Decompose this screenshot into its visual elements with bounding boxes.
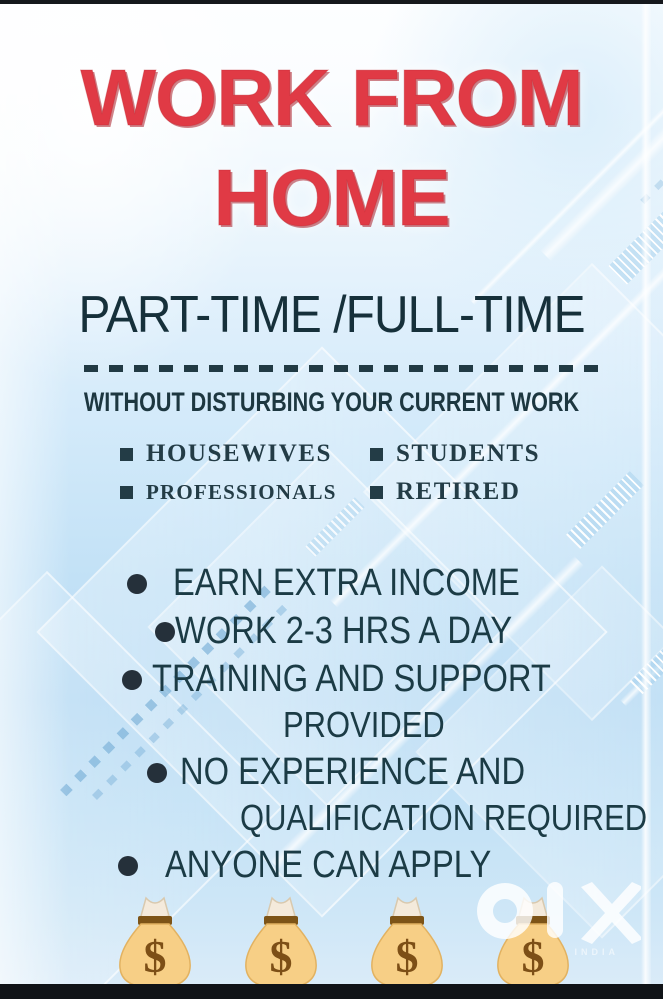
benefit-item: NO EXPERIENCE AND (0, 749, 663, 797)
round-bullet-icon (127, 574, 147, 594)
svg-text:$: $ (144, 931, 167, 982)
square-bullet-icon (370, 448, 383, 461)
round-bullet-icon (155, 622, 175, 642)
tagline: WITHOUT DISTURBING YOUR CURRENT WORK (66, 387, 596, 418)
square-bullet-icon (370, 486, 383, 499)
benefit-label: WORK 2-3 HRS A DAY (175, 610, 512, 653)
money-bag-icon: $ (364, 894, 450, 990)
olx-watermark-region: INDIA (575, 947, 620, 957)
poster-content: WORK FROM HOME PART-TIME /FULL-TIME WITH… (0, 0, 663, 999)
benefit-label: EARN EXTRA INCOME (173, 562, 520, 605)
benefit-label: TRAINING AND SUPPORT (152, 658, 551, 701)
benefit-continuation: PROVIDED (0, 704, 663, 749)
audience-item-label: RETIRED (396, 478, 520, 506)
benefit-label: NO EXPERIENCE AND (180, 751, 525, 794)
square-bullet-icon (120, 486, 133, 499)
audience-item-label: STUDENTS (396, 440, 540, 468)
benefit-item: WORK 2-3 HRS A DAY (0, 608, 663, 656)
round-bullet-icon (122, 670, 142, 690)
subheadline: PART-TIME /FULL-TIME (27, 285, 637, 345)
audience-item-label: HOUSEWIVES (146, 440, 332, 468)
top-letterbox-bar (0, 0, 663, 4)
round-bullet-icon (147, 763, 167, 783)
headline-line-1: WORK FROM (0, 60, 663, 136)
work-from-home-poster: WORK FROM HOME PART-TIME /FULL-TIME WITH… (0, 0, 663, 999)
audience-item: HOUSEWIVES (120, 440, 370, 468)
audience-item: PROFESSIONALS (120, 478, 370, 506)
audience-item: RETIRED (370, 478, 560, 506)
benefit-item: EARN EXTRA INCOME (0, 560, 663, 608)
benefit-continuation-label: QUALIFICATION REQUIRED (240, 797, 647, 839)
bottom-letterbox-bar (0, 984, 663, 999)
benefit-label: ANYONE CAN APPLY (165, 844, 491, 887)
benefit-continuation: QUALIFICATION REQUIRED (0, 797, 663, 842)
audience-item-label: PROFESSIONALS (146, 480, 337, 505)
headline-line-2: HOME (0, 160, 663, 236)
svg-text:$: $ (270, 931, 293, 982)
benefit-continuation-label: PROVIDED (283, 704, 445, 746)
audience-item: STUDENTS (370, 440, 560, 468)
svg-text:$: $ (396, 931, 419, 982)
money-bag-icon: $ (238, 894, 324, 990)
benefit-item: TRAINING AND SUPPORT (0, 656, 663, 704)
audience-list: HOUSEWIVES STUDENTS PROFESSIONALS RETIRE… (120, 440, 560, 506)
round-bullet-icon (118, 856, 138, 876)
square-bullet-icon (120, 448, 133, 461)
money-bag-icon: $ (112, 894, 198, 990)
benefits-list: EARN EXTRA INCOME WORK 2-3 HRS A DAY TRA… (0, 560, 663, 890)
dashed-divider (84, 365, 598, 372)
